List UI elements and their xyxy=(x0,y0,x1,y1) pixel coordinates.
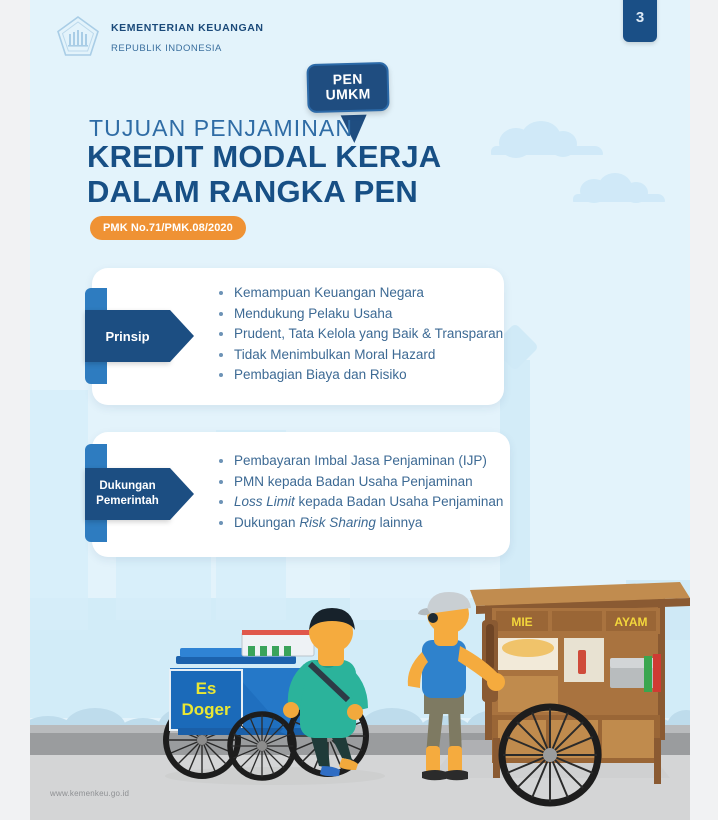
page-title-line2: DALAM RANGKA PEN xyxy=(87,174,418,209)
list-item-text: PMN kepada Badan Usaha Penjaminan xyxy=(234,474,473,489)
list-item: Dukungan Risk Sharing lainnya xyxy=(216,513,503,534)
page-number-badge: 3 xyxy=(623,0,657,42)
ministry-name: KEMENTERIAN KEUANGAN REPUBLIK INDONESIA xyxy=(111,17,264,57)
page-title: KREDIT MODAL KERJA DALAM RANGKA PEN xyxy=(87,140,441,209)
list-item-emphasis: Loss Limit xyxy=(234,494,295,509)
slide-canvas: KEMENTERIAN KEUANGAN REPUBLIK INDONESIA … xyxy=(30,0,690,820)
list-item: Kemampuan Keuangan Negara xyxy=(216,283,503,304)
card-prinsip-label: Prinsip xyxy=(85,310,170,362)
list-item-text-post: lainnya xyxy=(376,515,423,530)
list-item: Loss Limit kepada Badan Usaha Penjaminan xyxy=(216,492,503,513)
svg-text:Es: Es xyxy=(196,679,217,698)
pen-umkm-tag-box: PEN UMKM xyxy=(306,62,389,113)
card-dukungan-label-line2: Pemerintah xyxy=(96,495,159,507)
svg-text:MIE: MIE xyxy=(511,615,532,629)
list-item: PMN kepada Badan Usaha Penjaminan xyxy=(216,472,503,493)
list-item: Pembagian Biaya dan Risiko xyxy=(216,365,503,386)
page-title-line1: KREDIT MODAL KERJA xyxy=(87,139,441,174)
ministry-header: KEMENTERIAN KEUANGAN REPUBLIK INDONESIA xyxy=(55,14,264,60)
regulation-badge: PMK No.71/PMK.08/2020 xyxy=(90,216,246,240)
list-item-text: Kemampuan Keuangan Negara xyxy=(234,285,424,300)
pen-umkm-tag: PEN UMKM xyxy=(307,63,389,112)
list-item-text: Pembagian Biaya dan Risiko xyxy=(234,367,407,382)
cloud-icon-1 xyxy=(487,120,617,156)
list-item-emphasis: Risk Sharing xyxy=(299,515,376,530)
card-dukungan-label-line1: Dukungan xyxy=(99,480,155,492)
pen-umkm-line2: UMKM xyxy=(325,86,371,103)
card-dukungan-label-inner: Dukungan Pemerintah xyxy=(96,479,159,509)
svg-text:AYAM: AYAM xyxy=(614,615,647,629)
list-item-text: Pembayaran Imbal Jasa Penjaminan (IJP) xyxy=(234,453,487,468)
ministry-name-line1: KEMENTERIAN KEUANGAN xyxy=(111,22,264,34)
list-item-text: Dukungan xyxy=(234,515,299,530)
footer-url: www.kemenkeu.go.id xyxy=(50,789,129,798)
card-dukungan-list: Pembayaran Imbal Jasa Penjaminan (IJP) P… xyxy=(216,451,503,533)
title-eyebrow: TUJUAN PENJAMINAN xyxy=(89,115,353,142)
list-item-text: Prudent, Tata Kelola yang Baik & Transpa… xyxy=(234,326,503,341)
list-item-text: Tidak Menimbulkan Moral Hazard xyxy=(234,347,435,362)
list-item: Pembayaran Imbal Jasa Penjaminan (IJP) xyxy=(216,451,503,472)
card-prinsip-list: Kemampuan Keuangan Negara Mendukung Pela… xyxy=(216,283,503,386)
svg-text:Doger: Doger xyxy=(181,700,231,719)
ministry-name-line2: REPUBLIK INDONESIA xyxy=(111,43,222,54)
pentagon-ministry-logo-icon xyxy=(55,14,101,60)
cloud-icon-2 xyxy=(570,172,680,204)
list-item-text: Mendukung Pelaku Usaha xyxy=(234,306,392,321)
list-item: Mendukung Pelaku Usaha xyxy=(216,304,503,325)
card-dukungan-label: Dukungan Pemerintah xyxy=(85,468,170,520)
street-vendors-illustration: Es Doger xyxy=(30,560,690,820)
list-item: Tidak Menimbulkan Moral Hazard xyxy=(216,345,503,366)
list-item-text-post: kepada Badan Usaha Penjaminan xyxy=(295,494,504,509)
list-item: Prudent, Tata Kelola yang Baik & Transpa… xyxy=(216,324,503,345)
